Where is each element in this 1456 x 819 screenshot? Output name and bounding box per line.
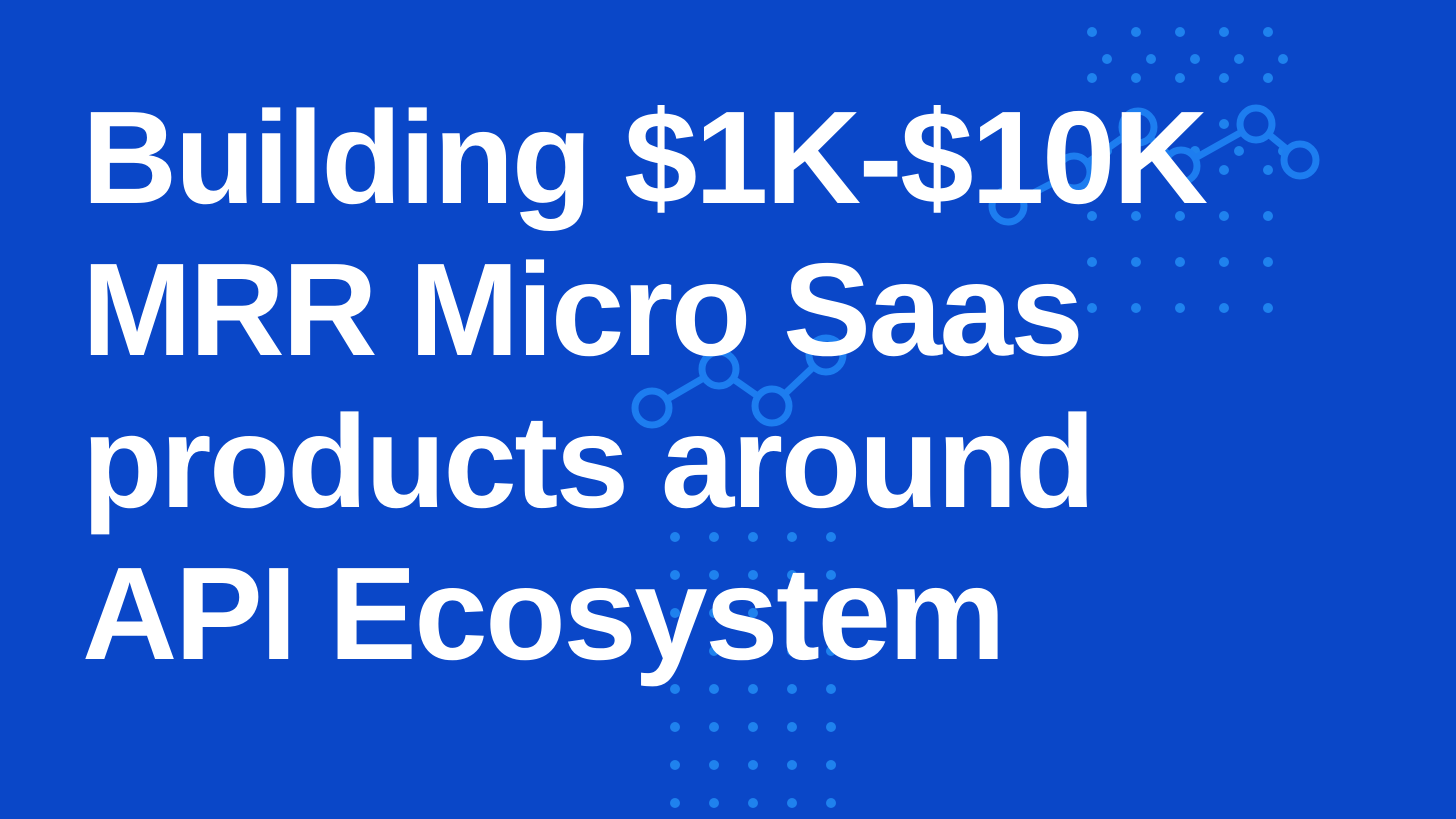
grid-dot [787, 722, 797, 732]
grid-dot [670, 722, 680, 732]
grid-dot [826, 798, 836, 808]
grid-dot [1102, 54, 1112, 64]
headline-line-2: MRR Micro Saas [82, 234, 1372, 386]
grid-dot [787, 798, 797, 808]
grid-dot [709, 798, 719, 808]
grid-dot [826, 722, 836, 732]
grid-dot [826, 760, 836, 770]
grid-dot [748, 798, 758, 808]
grid-dot [1175, 27, 1185, 37]
headline-line-1: Building $1K-$10K [82, 82, 1372, 234]
grid-dot [1263, 27, 1273, 37]
grid-dot [1087, 27, 1097, 37]
grid-dot [709, 760, 719, 770]
grid-dot [709, 722, 719, 732]
slide-canvas: Building $1K-$10K MRR Micro Saas product… [0, 0, 1456, 819]
grid-dot [748, 760, 758, 770]
grid-dot [670, 760, 680, 770]
grid-dot [748, 722, 758, 732]
grid-dot [787, 760, 797, 770]
page-title: Building $1K-$10K MRR Micro Saas product… [82, 82, 1372, 690]
grid-dot [1146, 54, 1156, 64]
headline-line-3: products around [82, 386, 1372, 538]
grid-dot [1190, 54, 1200, 64]
grid-dot [1278, 54, 1288, 64]
grid-dot [670, 798, 680, 808]
grid-dot [1131, 27, 1141, 37]
grid-dot [1234, 54, 1244, 64]
headline-line-4: API Ecosystem [82, 538, 1372, 690]
grid-dot [1219, 27, 1229, 37]
